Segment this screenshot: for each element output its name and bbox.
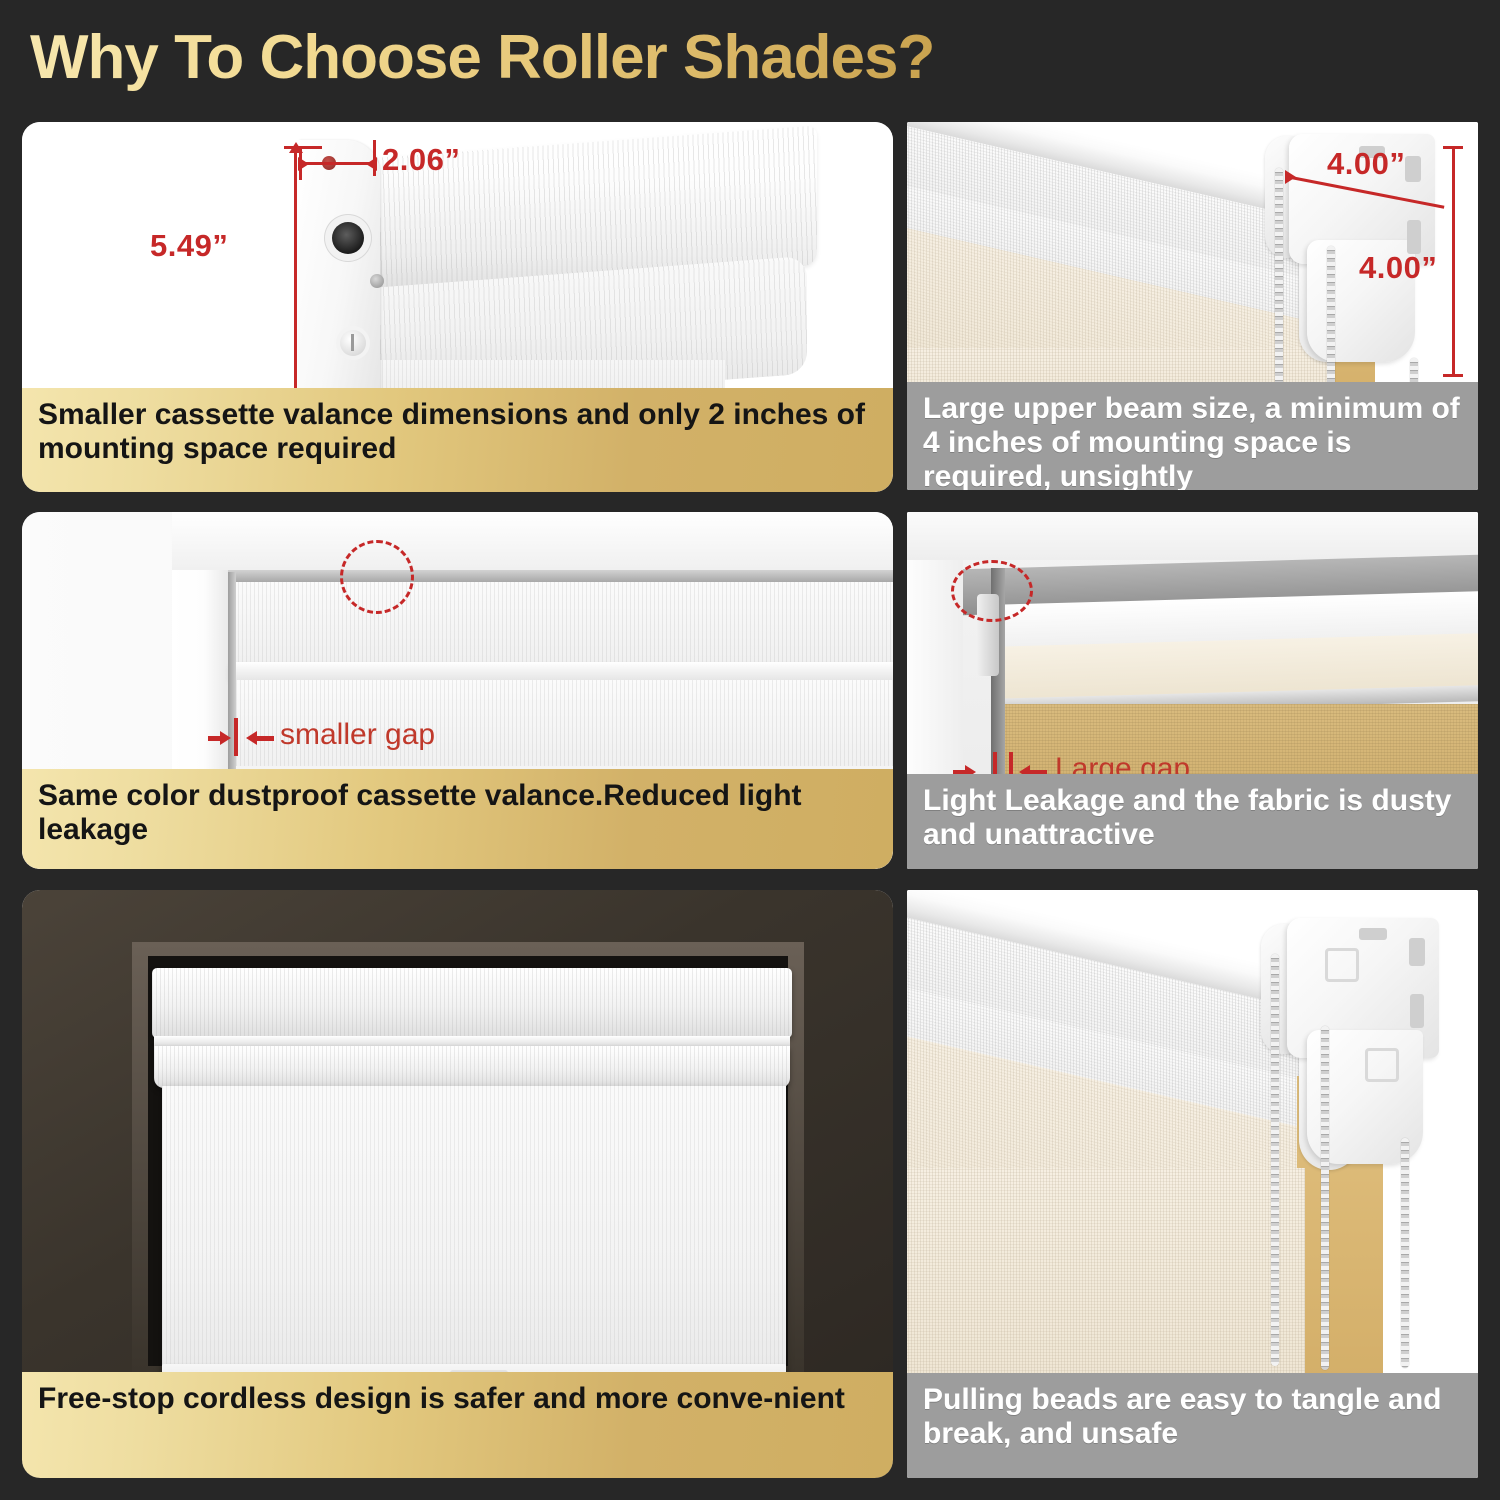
panel-pulling-beads: Pulling beads are easy to tangle and bre… xyxy=(907,890,1478,1478)
bracket-glyph-upper xyxy=(1325,948,1359,982)
panel-3-caption: Same color dustproof cassette valance.Re… xyxy=(22,769,893,869)
panel-5-caption: Free-stop cordless design is safer and m… xyxy=(22,1372,893,1478)
dim-beam-width-label: 4.00” xyxy=(1327,146,1405,182)
gap-label-smaller: smaller gap xyxy=(280,718,435,752)
gap-arrow-left-stem xyxy=(208,736,224,741)
dim-beam-height-tick-top xyxy=(1443,146,1463,149)
panel-large-upper-beam: 4.00” 4.00” Large upper beam size, a min… xyxy=(907,122,1478,490)
cassette-headrail xyxy=(152,968,792,1038)
gap-highlight-circle xyxy=(340,540,414,614)
panel-dustproof-cassette: smaller gap Same color dustproof cassett… xyxy=(22,512,893,869)
shade-fabric-main xyxy=(162,1086,786,1384)
page-title: Why To Choose Roller Shades? xyxy=(30,22,934,93)
bracket-screw-icon xyxy=(340,330,366,356)
gap-arrow-right-stem xyxy=(256,736,274,741)
bracket-slot-mid xyxy=(1407,220,1421,254)
bead-chain-right xyxy=(1401,1138,1409,1368)
bead-chain-left xyxy=(1271,954,1279,1366)
bracket-slot-mid xyxy=(1410,994,1424,1028)
ceiling-strip xyxy=(907,512,1478,560)
dim-beam-height-label: 4.00” xyxy=(1359,250,1437,286)
bead-chain-mid xyxy=(1321,1026,1329,1370)
panel-1-caption: Smaller cassette valance dimensions and … xyxy=(22,388,893,492)
dim-height-label: 5.49” xyxy=(150,228,228,264)
valance-bottom-lip xyxy=(230,662,893,680)
dim-beam-height-line xyxy=(1452,146,1455,376)
cassette-scene: 2.06” 5.49” xyxy=(22,122,893,390)
gap-highlight-circle xyxy=(951,560,1033,622)
bead-chain-left xyxy=(1275,168,1283,418)
dim-width-tick-right xyxy=(373,140,376,176)
bracket-glyph-lower xyxy=(1365,1048,1399,1082)
bracket-hole-icon xyxy=(332,222,364,254)
panel-smaller-cassette: 2.06” 5.49” Smaller cassette valance dim… xyxy=(22,122,893,492)
end-bracket xyxy=(298,140,380,402)
panel-light-leakage: Large gap Light Leakage and the fabric i… xyxy=(907,512,1478,869)
panel-6-caption: Pulling beads are easy to tangle and bre… xyxy=(907,1373,1478,1478)
panel-2-caption: Large upper beam size, a minimum of 4 in… xyxy=(907,382,1478,490)
dim-beam-height-tick-bottom xyxy=(1443,374,1463,377)
dim-width-line xyxy=(304,162,372,165)
gap-tick xyxy=(234,718,238,756)
bracket-slot-bottom xyxy=(1359,928,1387,940)
panel-4-caption: Light Leakage and the fabric is dusty an… xyxy=(907,774,1478,869)
bracket-slot-top xyxy=(1409,938,1425,966)
headrail-lower-curve xyxy=(154,1046,790,1088)
dim-height-tick-top xyxy=(284,146,322,149)
dim-height-line xyxy=(294,148,297,398)
window-head-jamb xyxy=(172,512,893,570)
cassette-front-rail xyxy=(228,570,893,582)
dim-beam-width-arrow-left xyxy=(1285,170,1296,184)
panel-cordless-design: Free-stop cordless design is safer and m… xyxy=(22,890,893,1478)
bracket-mid-screw-icon xyxy=(370,274,384,288)
beige-shade-lower xyxy=(907,1168,1305,1380)
infographic-stage: Why To Choose Roller Shades? 2.06” xyxy=(0,0,1500,1500)
bracket-slot-top xyxy=(1405,156,1421,182)
dim-width-label: 2.06” xyxy=(382,142,460,178)
cassette-valance-face xyxy=(230,582,893,666)
